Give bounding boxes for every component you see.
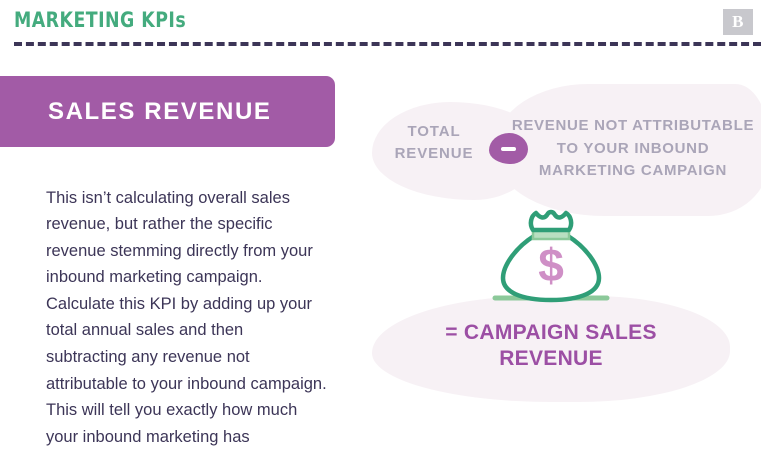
money-bag-currency-symbol: $ <box>538 239 564 291</box>
page-title: MARKETING KPIs <box>14 8 186 32</box>
formula-term-total-revenue: TOTAL REVENUE <box>383 121 485 165</box>
header-divider <box>14 42 761 46</box>
slide-canvas: MARKETING KPIs B SALES REVENUE This isn’… <box>0 0 761 451</box>
money-bag-icon: $ <box>489 206 613 310</box>
formula-result-campaign-sales-revenue: = CAMPAIGN SALES REVENUE <box>395 320 707 372</box>
brand-badge: B <box>723 9 753 35</box>
formula-term-revenue-not-attributable: REVENUE NOT ATTRIBUTABLE TO YOUR INBOUND… <box>511 115 755 183</box>
kpi-banner-label: SALES REVENUE <box>48 98 272 126</box>
brand-badge-letter: B <box>732 12 744 32</box>
kpi-banner: SALES REVENUE <box>0 76 335 147</box>
kpi-description: This isn’t calculating overall sales rev… <box>46 185 328 451</box>
